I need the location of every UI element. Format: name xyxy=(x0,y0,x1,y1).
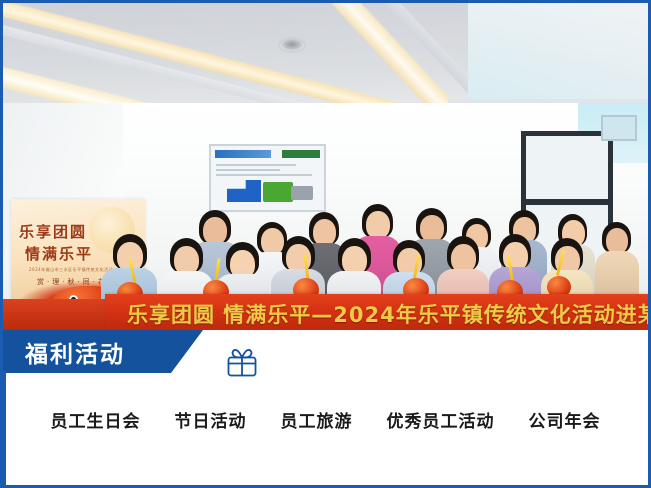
group-photo: 乐享团圆 情满乐平 2024年佛山市三水区乐平镇传统文化活动 赏·理·秋·同·花 xyxy=(3,3,648,330)
event-banner: 乐享团圆 情满乐平—2024年乐平镇传统文化活动进某员工会 xyxy=(105,294,648,330)
activity-links: 员工生日会 节日活动 员工旅游 优秀员工活动 公司年会 xyxy=(3,401,648,437)
section-tag: 福利活动 xyxy=(3,330,203,373)
link-annual-meeting[interactable]: 公司年会 xyxy=(529,407,601,432)
section-tag-label: 福利活动 xyxy=(3,335,125,369)
gift-icon xyxy=(225,347,259,377)
event-banner-text: 乐享团圆 情满乐平—2024年乐平镇传统文化活动进某员工会 xyxy=(127,299,648,329)
banner-left-end xyxy=(3,299,107,330)
link-festival[interactable]: 节日活动 xyxy=(175,407,247,432)
section-tag-wrap: 福利活动 xyxy=(3,330,648,375)
link-travel[interactable]: 员工旅游 xyxy=(281,407,353,432)
people-group xyxy=(3,3,648,330)
link-birthday[interactable]: 员工生日会 xyxy=(51,407,141,432)
link-excellent-staff[interactable]: 优秀员工活动 xyxy=(387,407,495,432)
welfare-activity-card: 乐享团圆 情满乐平 2024年佛山市三水区乐平镇传统文化活动 赏·理·秋·同·花 xyxy=(0,0,651,488)
